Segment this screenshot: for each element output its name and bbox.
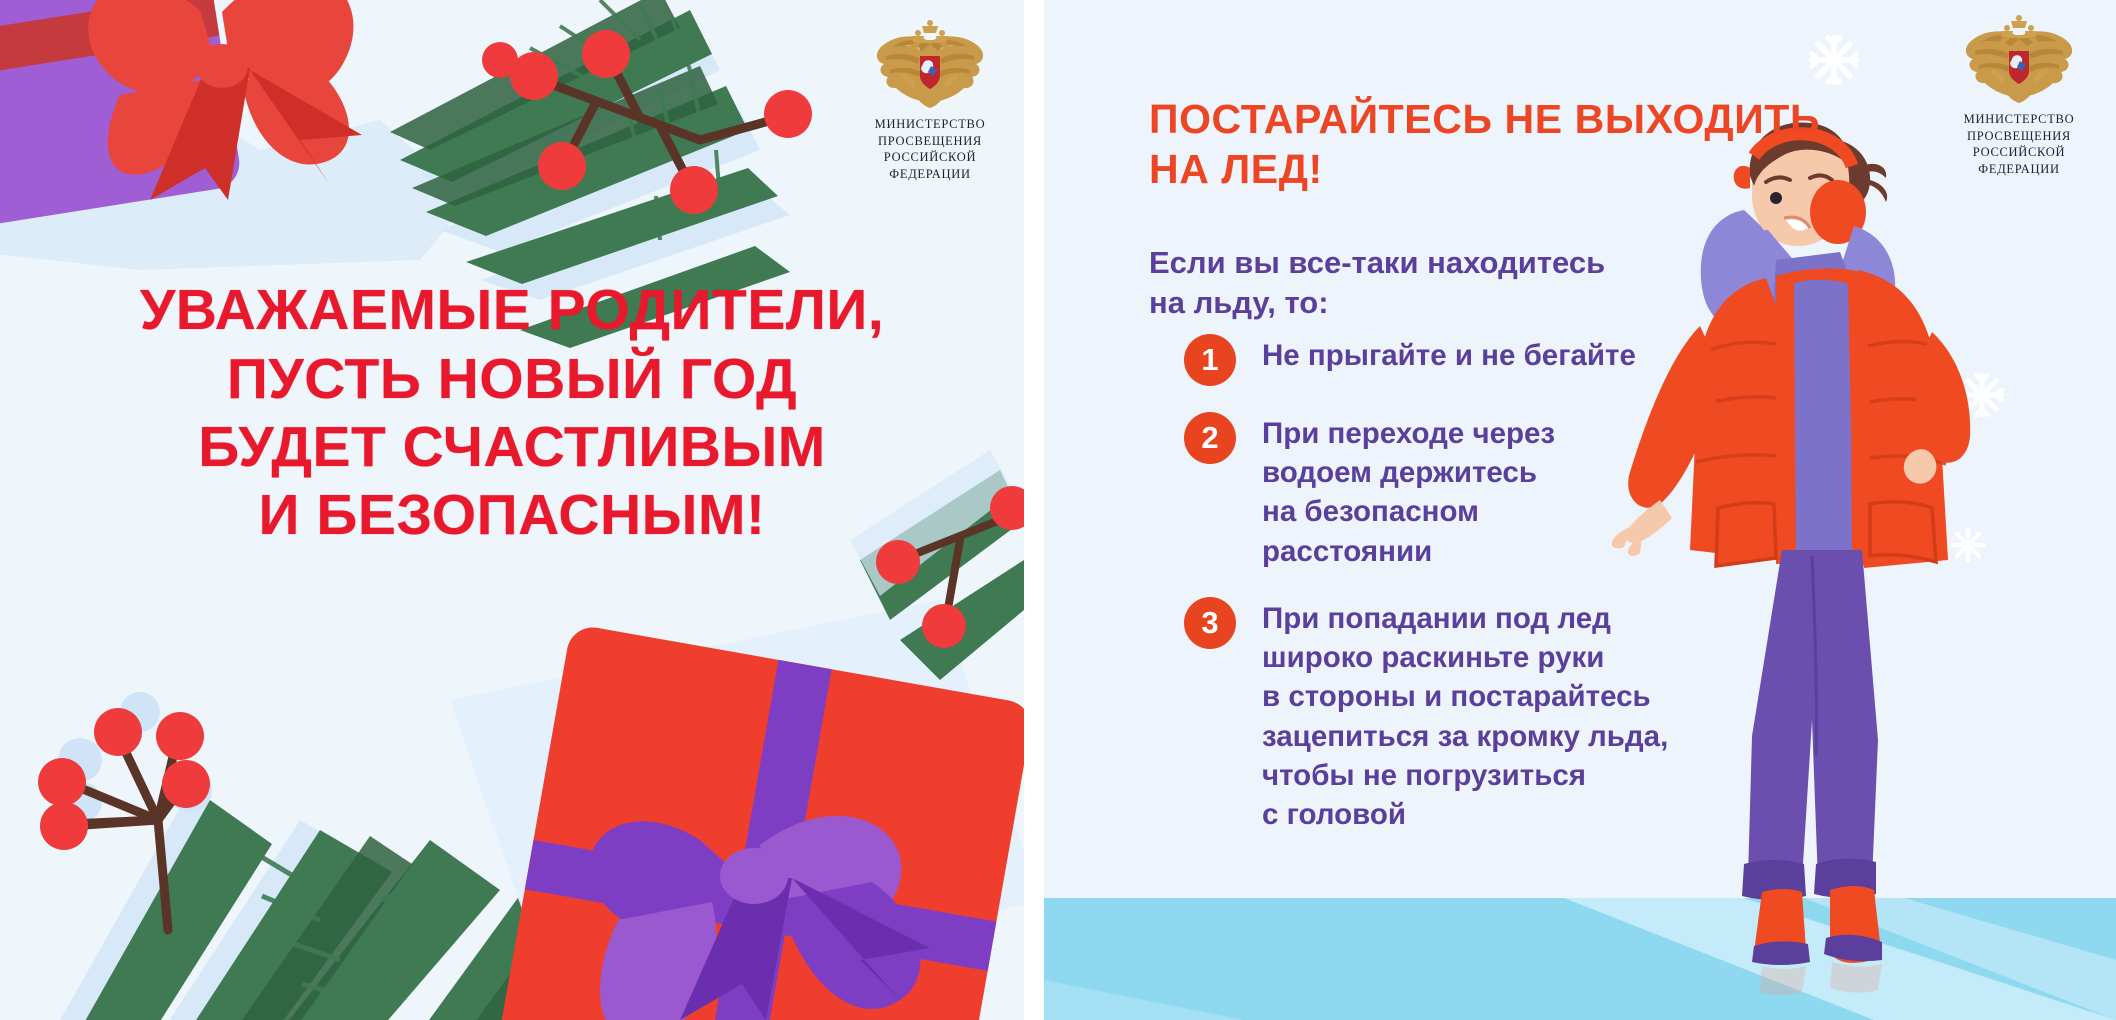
berry-shadows-bottom-left xyxy=(58,692,212,822)
list-item-text: При переходе через водоем держитесь на б… xyxy=(1262,410,1555,571)
russian-double-headed-eagle-emblem xyxy=(1963,15,2075,107)
ministry-emblem-left: МИНИСТЕРСТВО ПРОСВЕЩЕНИЯ РОССИЙСКОЙ ФЕДЕ… xyxy=(835,20,1024,183)
list-number-badge: 2 xyxy=(1184,412,1236,464)
poster-pair-stage: УВАЖАЕМЫЕ РОДИТЕЛИ, ПУСТЬ НОВЫЙ ГОД БУДЕ… xyxy=(0,0,2116,1020)
gift-bow-bottom-right xyxy=(590,816,930,1020)
snowflake-icon xyxy=(1812,38,1857,83)
snowflake-icon xyxy=(1962,375,2002,415)
pine-branch-bottom-center xyxy=(400,840,740,1020)
left-poster: УВАЖАЕМЫЕ РОДИТЕЛИ, ПУСТЬ НОВЫЙ ГОД БУДЕ… xyxy=(0,0,1024,1020)
right-poster-heading: ПОСТАРАЙТЕСЬ НЕ ВЫХОДИТЬ НА ЛЕД! xyxy=(1149,94,1849,194)
ministry-emblem-caption-right: МИНИСТЕРСТВО ПРОСВЕЩЕНИЯ РОССИЙСКОЙ ФЕДЕ… xyxy=(1924,111,2114,178)
left-poster-title: УВАЖАЕМЫЕ РОДИТЕЛИ, ПУСТЬ НОВЫЙ ГОД БУДЕ… xyxy=(0,276,1024,550)
list-number-badge: 3 xyxy=(1184,597,1236,649)
poster-divider xyxy=(1024,0,1044,1020)
list-item: 3 При попадании под лед широко раскиньте… xyxy=(1184,595,1884,834)
list-number-badge: 1 xyxy=(1184,334,1236,386)
list-item-text: Не прыгайте и не бегайте xyxy=(1262,332,1636,375)
ice-surface xyxy=(1044,898,2116,1020)
hand-right xyxy=(1904,449,1937,483)
russian-double-headed-eagle-emblem xyxy=(874,20,986,112)
berry-sprig-top-right xyxy=(540,60,780,184)
snowflake-icon xyxy=(1953,530,1984,561)
berries-top-right xyxy=(482,30,812,214)
right-poster: ПОСТАРАЙТЕСЬ НЕ ВЫХОДИТЬ НА ЛЕД! Если вы… xyxy=(1044,0,2116,1020)
ministry-emblem-caption-left: МИНИСТЕРСТВО ПРОСВЕЩЕНИЯ РОССИЙСКОЙ ФЕДЕ… xyxy=(835,116,1024,183)
gift-box-top-left xyxy=(0,0,243,254)
ice-safety-rules-list: 1 Не прыгайте и не бегайте 2 При переход… xyxy=(1144,332,1884,858)
berries-bottom-left xyxy=(38,708,210,850)
list-item: 1 Не прыгайте и не бегайте xyxy=(1184,332,1884,386)
berry-sprig-bottom-left xyxy=(66,740,180,930)
gift-bow-top-left xyxy=(88,0,362,200)
snow-patch-top-left xyxy=(0,60,470,270)
list-item-text: При попадании под лед широко раскиньте р… xyxy=(1262,595,1668,834)
right-poster-subheading: Если вы все-таки находитесь на льду, то: xyxy=(1149,243,1769,324)
pine-branch-bottom-left xyxy=(38,692,500,1020)
list-item: 2 При переходе через водоем держитесь на… xyxy=(1184,410,1884,571)
ministry-emblem-right: МИНИСТЕРСТВО ПРОСВЕЩЕНИЯ РОССИЙСКОЙ ФЕДЕ… xyxy=(1924,15,2114,178)
